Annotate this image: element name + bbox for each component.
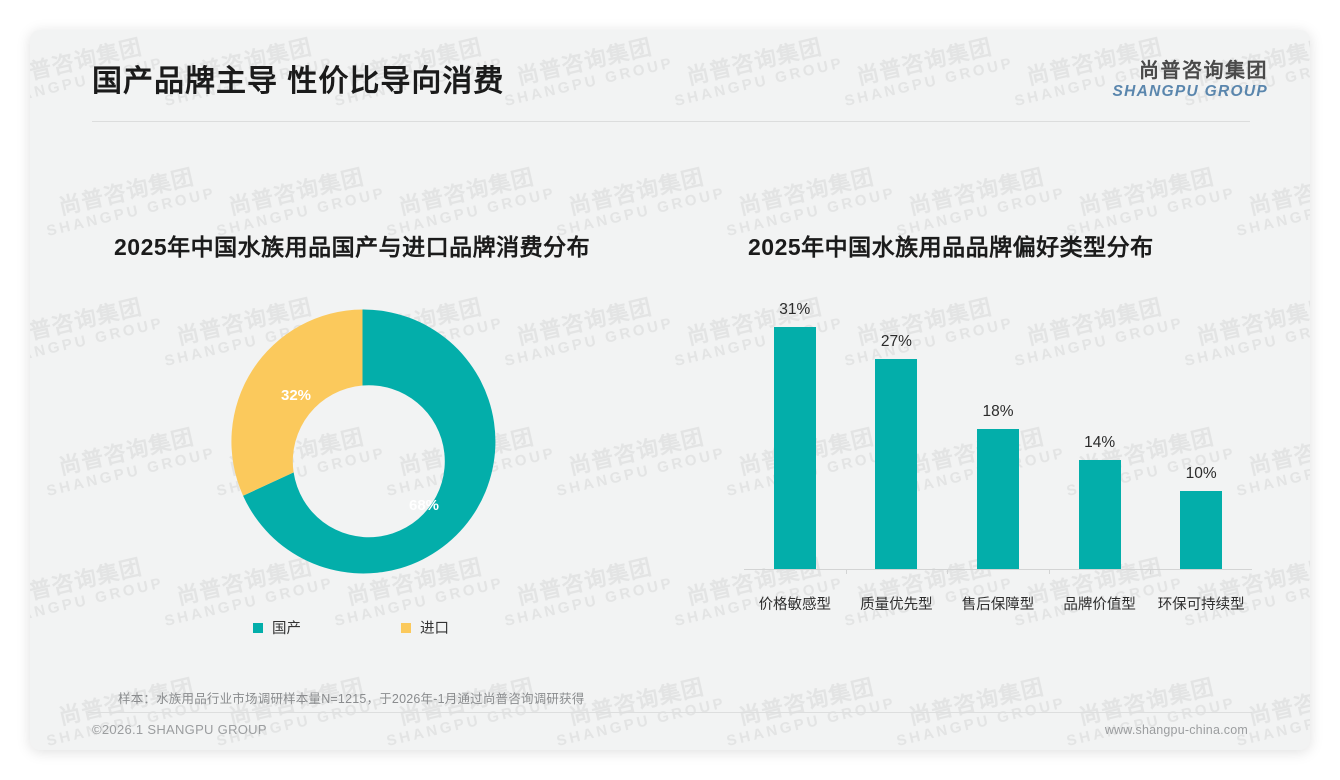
bar-value-label: 31% [779, 301, 810, 319]
footer-divider [88, 712, 1252, 713]
bar[interactable] [977, 429, 1019, 569]
bar-value-label: 18% [982, 403, 1013, 421]
bar-column: 31% [744, 304, 846, 569]
bar[interactable] [774, 327, 816, 569]
chart-title-bar: 2025年中国水族用品品牌偏好类型分布 [748, 228, 1154, 262]
bar-category-label: 价格敏感型 [740, 593, 850, 614]
website-link[interactable]: www.shangpu-china.com [1105, 723, 1248, 737]
bar-category-label: 质量优先型 [841, 593, 951, 614]
brand-name-en: SHANGPU GROUP [1112, 83, 1268, 102]
x-axis-tick [1150, 570, 1151, 574]
bar-column: 18% [947, 304, 1049, 569]
x-axis-tick [947, 570, 948, 574]
bar[interactable] [1079, 460, 1121, 569]
bar-chart: 31%价格敏感型27%质量优先型18%售后保障型14%品牌价值型10%环保可持续… [730, 295, 1260, 615]
bar-value-label: 10% [1186, 465, 1217, 483]
page-title: 国产品牌主导 性价比导向消费 [92, 56, 504, 100]
bar-value-label: 14% [1084, 434, 1115, 452]
bar-column: 27% [846, 304, 948, 569]
bar-category-label: 售后保障型 [943, 593, 1053, 614]
x-axis-tick [1049, 570, 1050, 574]
copyright-text: ©2026.1 SHANGPU GROUP [92, 722, 267, 737]
legend-swatch-icon [401, 623, 411, 633]
brand-name-cn: 尚普咨询集团 [1112, 60, 1268, 83]
brand-logo: 尚普咨询集团 SHANGPU GROUP [1112, 60, 1268, 102]
chart-title-donut: 2025年中国水族用品国产与进口品牌消费分布 [114, 228, 590, 262]
bar-chart-plot: 31%价格敏感型27%质量优先型18%售后保障型14%品牌价值型10%环保可持续… [744, 305, 1252, 570]
slide-card: 尚普咨询集团SHANGPU GROUP尚普咨询集团SHANGPU GROUP尚普… [30, 30, 1310, 750]
panel-domestic-vs-import: 2025年中国水族用品国产与进口品牌消费分布 68% 32% 国产进口 [88, 190, 688, 690]
donut-legend: 国产进口 [253, 617, 563, 638]
header-divider [92, 121, 1250, 122]
donut-label-import: 32% [281, 387, 311, 404]
slide-footer: ©2026.1 SHANGPU GROUP www.shangpu-china.… [30, 720, 1310, 750]
legend-item[interactable]: 国产 [253, 617, 301, 638]
bar-column: 14% [1049, 304, 1151, 569]
donut-label-domestic: 68% [409, 497, 439, 514]
bar-category-label: 品牌价值型 [1045, 593, 1155, 614]
x-axis-tick [846, 570, 847, 574]
slide-header: 国产品牌主导 性价比导向消费 尚普咨询集团 SHANGPU GROUP [30, 30, 1310, 122]
bar-value-label: 27% [881, 333, 912, 351]
x-axis-line [744, 569, 1252, 570]
donut-chart: 68% 32% [225, 304, 500, 579]
sample-footnote: 样本：水族用品行业市场调研样本量N=1215，于2026年-1月通过尚普咨询调研… [118, 688, 1218, 707]
legend-label: 国产 [272, 617, 301, 638]
bar[interactable] [1180, 491, 1222, 569]
donut-chart-svg [225, 304, 500, 579]
legend-swatch-icon [253, 623, 263, 633]
legend-label: 进口 [420, 617, 449, 638]
bar-category-label: 环保可持续型 [1146, 593, 1256, 614]
bar[interactable] [875, 359, 917, 569]
bar-column: 10% [1150, 304, 1252, 569]
panel-brand-preference: 2025年中国水族用品品牌偏好类型分布 31%价格敏感型27%质量优先型18%售… [720, 190, 1260, 690]
legend-item[interactable]: 进口 [401, 617, 449, 638]
